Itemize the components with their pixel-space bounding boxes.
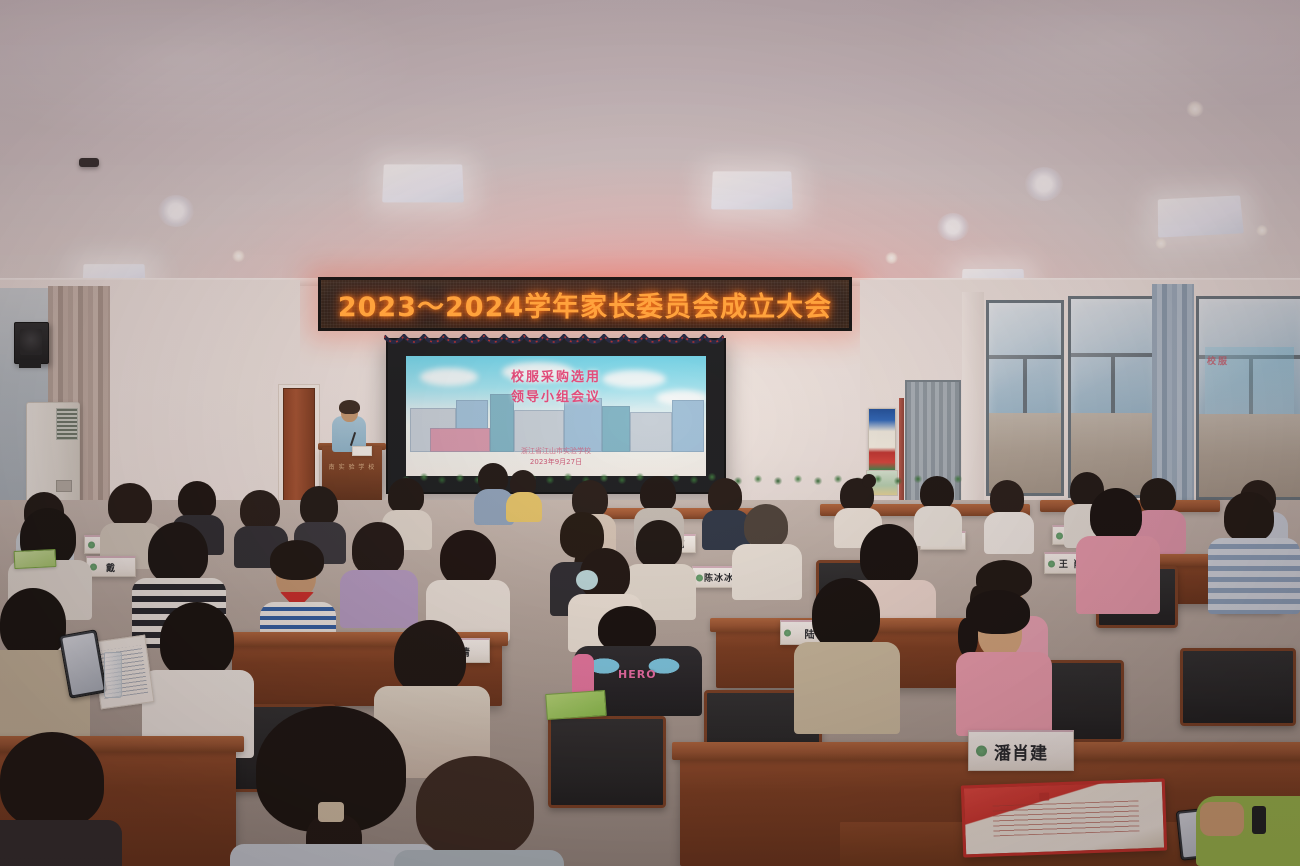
ceiling-downlight — [937, 213, 969, 241]
wristwatch-icon — [1252, 806, 1266, 834]
air-conditioner-panel — [56, 480, 72, 492]
person-torso — [394, 850, 564, 866]
ceiling — [0, 0, 1300, 300]
stage-plant-row — [398, 468, 728, 488]
person-hair — [160, 602, 234, 678]
slide-building — [564, 398, 602, 452]
hair-scrunchie — [576, 570, 598, 590]
person-torso — [1076, 536, 1160, 614]
ceiling-projector — [79, 158, 99, 167]
person-hair — [352, 522, 404, 576]
audience-chair[interactable] — [1180, 648, 1296, 726]
person-hair — [394, 620, 466, 694]
person-hair — [1140, 478, 1176, 514]
ceiling-downlight — [1186, 101, 1204, 117]
person-hair — [990, 480, 1024, 516]
certificate-text-lines — [992, 801, 1140, 836]
person-hair — [178, 481, 216, 519]
slide-title-line2: 领导小组会议 — [406, 386, 706, 405]
window-pane: 校服 — [1196, 296, 1300, 500]
green-booklet[interactable] — [545, 690, 607, 720]
podium-paper — [352, 446, 372, 456]
person-hair — [1224, 492, 1274, 542]
phone-screen — [62, 633, 104, 696]
person-hair — [108, 483, 152, 527]
conference-hall-photo: 2023～2024学年家长委员会成立大会 校服采购选用 领导小组会议 浙江省江山… — [0, 0, 1300, 866]
placard-text: 陈冰冰 — [704, 571, 734, 584]
placard-text: 戴 — [106, 561, 116, 574]
green-booklet[interactable] — [14, 549, 57, 569]
presenter-hair — [339, 400, 360, 414]
person-torso — [732, 544, 802, 600]
led-banner-text: 2023～2024学年家长委员会成立大会 — [338, 285, 832, 324]
school-logo-icon — [1056, 532, 1063, 539]
ceiling-downlight — [1025, 167, 1063, 201]
person-torso — [0, 820, 122, 866]
ceiling-downlight — [158, 195, 194, 227]
person-torso — [956, 652, 1052, 736]
ceiling-panel-light — [711, 171, 793, 209]
person-torso — [1208, 538, 1300, 614]
person-hair — [640, 476, 676, 512]
person-hair — [416, 756, 534, 858]
window-pane — [986, 300, 1064, 496]
wall-speaker-icon — [14, 322, 49, 364]
window-reflection — [1071, 299, 1155, 495]
name-placard: 潘肖建 — [968, 730, 1074, 771]
speaker-bracket — [19, 360, 41, 368]
slide-date-line: 2023年9月27日 — [406, 457, 706, 467]
person-hair — [240, 490, 280, 530]
window-pane — [1068, 296, 1158, 498]
projection-slide: 校服采购选用 领导小组会议 浙江省江山市实验学校 2023年9月27日 — [406, 356, 706, 476]
ceiling-panel-light — [1158, 195, 1244, 237]
led-banner: 2023～2024学年家长委员会成立大会 — [318, 277, 852, 331]
person-hair — [812, 578, 880, 650]
person-torso — [794, 642, 900, 734]
person-hair — [440, 530, 496, 586]
window-reflection — [1199, 299, 1300, 497]
ceiling-panel-light — [382, 164, 464, 202]
school-logo-icon — [696, 574, 703, 581]
ceiling-downlight — [885, 252, 898, 264]
school-logo-icon — [1048, 560, 1055, 567]
person-hair — [636, 520, 682, 568]
person-hair — [708, 478, 742, 514]
hair-clip — [318, 802, 344, 822]
slide-title-line1: 校服采购选用 — [406, 366, 706, 385]
slide-school-line: 浙江省江山市实验学校 — [406, 446, 706, 456]
person-hair — [860, 524, 918, 586]
person-hair-bun — [862, 474, 876, 488]
name-placard: 戴 — [86, 556, 136, 577]
slide-building — [672, 400, 704, 452]
school-logo-icon — [784, 630, 791, 637]
placard-text: 潘肖建 — [994, 739, 1048, 764]
person-torso — [340, 570, 418, 628]
person-hair — [744, 504, 788, 548]
water-bottle[interactable] — [104, 652, 122, 698]
award-certificate[interactable] — [961, 778, 1167, 857]
safety-poster-icon — [868, 408, 896, 472]
person-hair — [0, 588, 66, 658]
ceiling-downlight — [1155, 238, 1167, 249]
person-hair — [270, 540, 324, 580]
decorative-garland — [384, 334, 724, 350]
person-hair — [0, 732, 104, 828]
person-hair — [388, 478, 424, 514]
person-torso — [506, 492, 542, 522]
person-hand — [1200, 802, 1244, 836]
person-torso — [914, 506, 962, 546]
person-hair — [300, 486, 338, 526]
window-reflection — [989, 303, 1061, 493]
audience-chair[interactable] — [548, 716, 666, 808]
school-logo-icon — [976, 746, 987, 757]
podium-front-text: 南 实 验 学 校 — [326, 462, 378, 471]
ceiling-downlight — [1256, 225, 1268, 236]
person-torso — [984, 512, 1034, 554]
person-hair — [920, 476, 954, 510]
ceiling-downlight — [232, 250, 245, 262]
certificate-seal — [1039, 792, 1049, 800]
jacket-text: HERO — [618, 668, 657, 681]
person-hair — [1090, 488, 1142, 542]
school-logo-icon — [88, 542, 95, 549]
person-hair — [148, 522, 208, 584]
air-conditioner-grill — [56, 408, 78, 440]
